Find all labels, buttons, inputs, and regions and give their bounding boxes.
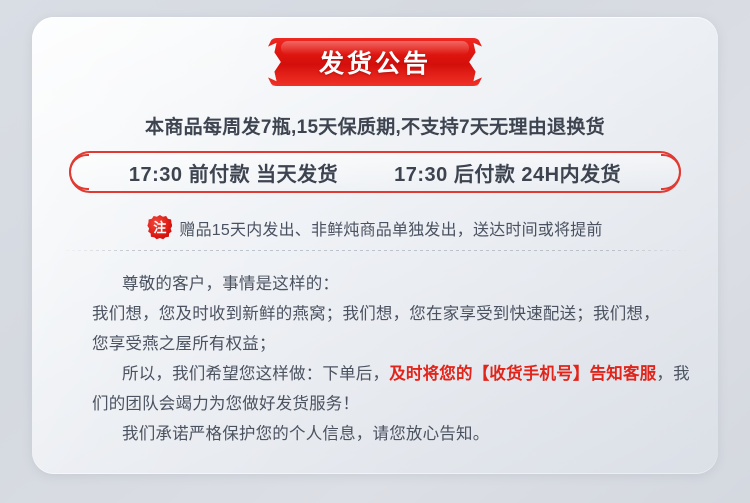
- shipping-announcement-banner: 发货公告: [268, 38, 482, 86]
- shipping-cutoff-capsule: 17:30 前付款 当天发货 17:30 后付款 24H内发货: [69, 151, 681, 193]
- dashed-divider: [60, 250, 690, 251]
- body-copy: 尊敬的客户，事情是这样的： 我们想，您及时收到新鲜的燕窝；我们想，您在家享受到快…: [92, 269, 674, 449]
- note-text: 赠品15天内发出、非鲜炖商品单独发出，送达时间或将提前: [179, 216, 602, 240]
- body-line-wish-2: 您享受燕之屋所有权益；: [92, 329, 674, 359]
- body-line-greeting: 尊敬的客户，事情是这样的：: [92, 269, 674, 299]
- headline-text: 本商品每周发7瓶,15天保质期,不支持7天无理由退换货: [32, 112, 718, 139]
- note-seal-icon: 注: [147, 215, 172, 240]
- body-line-privacy: 我们承诺严格保护您的个人信息，请您放心告知。: [92, 419, 674, 449]
- banner-container: 发货公告: [32, 38, 718, 86]
- body-line-request: 所以，我们希望您这样做：下单后，及时将您的【收货手机号】告知客服，我: [92, 359, 674, 389]
- body-line-wish-1: 我们想，您及时收到新鲜的燕窝；我们想，您在家享受到快速配送；我们想，: [92, 299, 674, 329]
- cutoff-after-text: 17:30 后付款 24H内发货: [394, 158, 621, 187]
- body-line-service: 们的团队会竭力为您做好发货服务！: [92, 389, 674, 419]
- request-highlight: 及时将您的【收货手机号】告知客服: [389, 365, 656, 383]
- request-text-pre: 所以，我们希望您这样做：下单后，: [122, 365, 389, 383]
- note-row: 注 赠品15天内发出、非鲜炖商品单独发出，送达时间或将提前: [32, 215, 718, 240]
- banner-title: 发货公告: [319, 44, 431, 80]
- capsule-container: 17:30 前付款 当天发货 17:30 后付款 24H内发货: [32, 151, 718, 193]
- announcement-card: 发货公告 本商品每周发7瓶,15天保质期,不支持7天无理由退换货 17:30 前…: [32, 17, 718, 474]
- cutoff-before-text: 17:30 前付款 当天发货: [129, 158, 338, 187]
- request-text-post: ，我: [656, 365, 689, 383]
